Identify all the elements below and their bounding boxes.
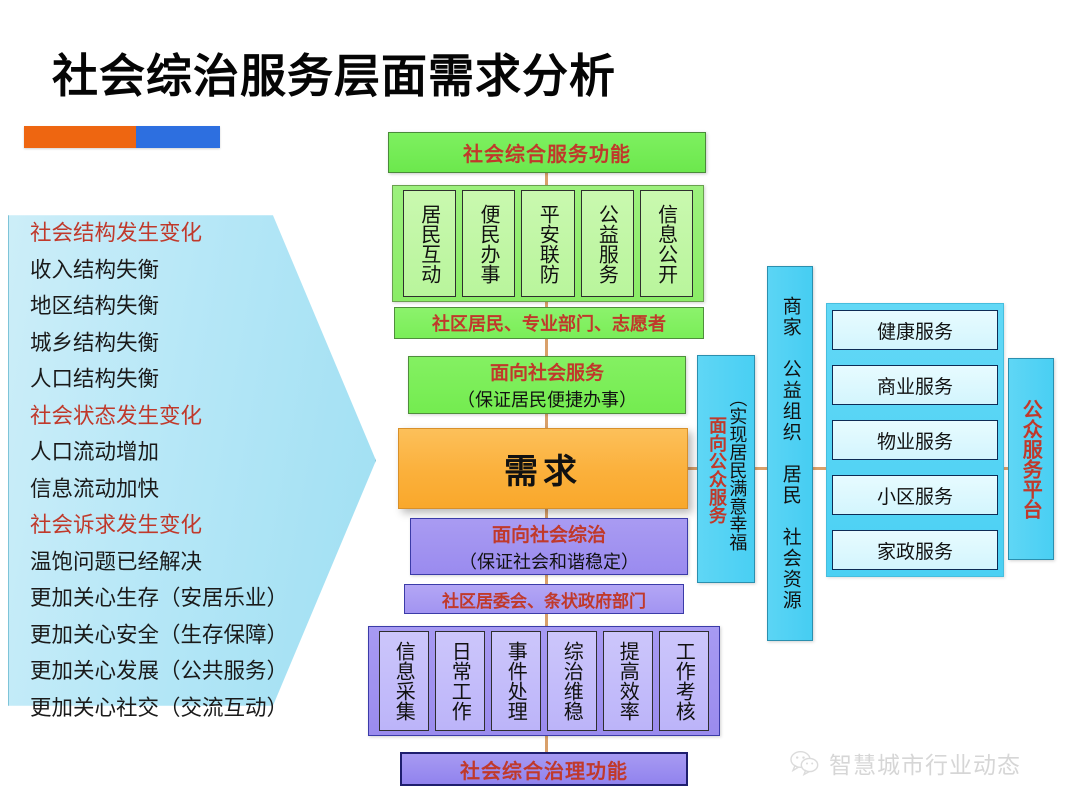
list-item: 人口结构失衡 bbox=[30, 362, 330, 398]
public-service-platform-box: 公众服务平台 bbox=[1008, 358, 1054, 560]
accent-bar-orange bbox=[24, 126, 136, 148]
facing-public-service-box: 面向公众服务 （实现居民满意幸福 bbox=[697, 355, 755, 583]
public-service-item[interactable]: 小区服务 bbox=[832, 475, 998, 515]
service-cells: 居民互动 便民办事 平安联防 公益服务 信息公开 bbox=[398, 190, 698, 297]
public-services-list: 健康服务 商业服务 物业服务 小区服务 家政服务 bbox=[832, 310, 998, 570]
governance-cell[interactable]: 提高效率 bbox=[603, 631, 653, 731]
service-cell-label: 居民互动 bbox=[419, 204, 439, 284]
service-actors: 社区居民、专业部门、志愿者 bbox=[394, 307, 704, 339]
slide-canvas: 社会综治服务层面需求分析 社会结构发生变化 收入结构失衡 地区结构失衡 城乡结构… bbox=[0, 0, 1080, 810]
list-item: 更加关心生存（安居乐业） bbox=[30, 581, 330, 617]
governance-cell-label: 工作考核 bbox=[674, 641, 694, 721]
governance-actors: 社区居委会、条状政府部门 bbox=[404, 584, 684, 614]
list-item: 地区结构失衡 bbox=[30, 289, 330, 325]
facing-social-service-title: 面向社会服务 bbox=[490, 358, 604, 385]
public-service-item[interactable]: 物业服务 bbox=[832, 420, 998, 460]
accent-bar bbox=[24, 126, 220, 148]
service-cell[interactable]: 信息公开 bbox=[640, 190, 693, 297]
list-item: 更加关心社交（交流互动） bbox=[30, 691, 330, 727]
facing-governance-sub: （保证社会和谐稳定） bbox=[459, 548, 639, 574]
governance-cell-label: 信息采集 bbox=[394, 641, 414, 721]
service-cell[interactable]: 公益服务 bbox=[581, 190, 634, 297]
governance-cell-label: 综治维稳 bbox=[562, 641, 582, 721]
list-item: 信息流动加快 bbox=[30, 472, 330, 508]
accent-bar-blue bbox=[136, 126, 220, 148]
facing-governance-box: 面向社会综治 （保证社会和谐稳定） bbox=[410, 518, 688, 575]
service-cell-label: 便民办事 bbox=[479, 204, 499, 284]
governance-cell-label: 提高效率 bbox=[618, 641, 638, 721]
list-item: 收入结构失衡 bbox=[30, 253, 330, 289]
governance-cell[interactable]: 工作考核 bbox=[659, 631, 709, 731]
list-item: 温饱问题已经解决 bbox=[30, 545, 330, 581]
connector-line bbox=[545, 172, 548, 186]
social-service-function-header: 社会综合服务功能 bbox=[388, 132, 706, 173]
facing-social-service-sub: （保证居民便捷办事） bbox=[457, 386, 637, 412]
list-item: 城乡结构失衡 bbox=[30, 326, 330, 362]
governance-cell-label: 日常工作 bbox=[450, 641, 470, 721]
service-cell[interactable]: 平安联防 bbox=[521, 190, 574, 297]
wechat-icon bbox=[790, 750, 820, 776]
list-item: 社会诉求发生变化 bbox=[30, 508, 330, 544]
service-cell-label: 公益服务 bbox=[597, 204, 617, 284]
page-title: 社会综治服务层面需求分析 bbox=[52, 40, 616, 106]
list-item: 更加关心发展（公共服务） bbox=[30, 654, 330, 690]
service-cell-label: 信息公开 bbox=[656, 204, 676, 284]
governance-cell[interactable]: 综治维稳 bbox=[547, 631, 597, 731]
facing-social-service-box: 面向社会服务 （保证居民便捷办事） bbox=[408, 356, 686, 414]
demand-core-box: 需求 bbox=[398, 428, 688, 509]
connector-line bbox=[545, 414, 548, 429]
social-change-list: 社会结构发生变化 收入结构失衡 地区结构失衡 城乡结构失衡 人口结构失衡 社会状… bbox=[30, 216, 330, 726]
service-cell[interactable]: 便民办事 bbox=[462, 190, 515, 297]
public-service-item[interactable]: 家政服务 bbox=[832, 530, 998, 570]
public-service-item[interactable]: 商业服务 bbox=[832, 365, 998, 405]
connector-line bbox=[545, 339, 548, 357]
resource-providers-column: 商家 公益组织 居民 社会资源 bbox=[767, 266, 813, 641]
governance-cell[interactable]: 事件处理 bbox=[491, 631, 541, 731]
service-cell-label: 平安联防 bbox=[538, 204, 558, 284]
governance-function-footer: 社会综合治理功能 bbox=[400, 752, 688, 786]
public-service-item[interactable]: 健康服务 bbox=[832, 310, 998, 350]
facing-public-service-sub: （实现居民满意幸福 bbox=[727, 389, 745, 551]
governance-cell[interactable]: 日常工作 bbox=[435, 631, 485, 731]
list-item: 更加关心安全（生存保障） bbox=[30, 618, 330, 654]
list-item: 社会状态发生变化 bbox=[30, 399, 330, 435]
facing-governance-title: 面向社会综治 bbox=[492, 520, 606, 547]
facing-public-service-title: 面向公众服务 bbox=[707, 416, 725, 524]
connector-line bbox=[545, 736, 548, 753]
watermark: 智慧城市行业动态 bbox=[790, 746, 1021, 780]
list-item: 社会结构发生变化 bbox=[30, 216, 330, 252]
resource-providers-label: 商家 公益组织 居民 社会资源 bbox=[780, 296, 799, 611]
governance-cell[interactable]: 信息采集 bbox=[379, 631, 429, 731]
list-item: 人口流动增加 bbox=[30, 435, 330, 471]
public-service-platform-label: 公众服务平台 bbox=[1021, 399, 1042, 519]
service-cell[interactable]: 居民互动 bbox=[403, 190, 456, 297]
watermark-text: 智慧城市行业动态 bbox=[829, 746, 1021, 780]
governance-cell-label: 事件处理 bbox=[506, 641, 526, 721]
governance-cells: 信息采集 日常工作 事件处理 综治维稳 提高效率 工作考核 bbox=[374, 631, 714, 731]
